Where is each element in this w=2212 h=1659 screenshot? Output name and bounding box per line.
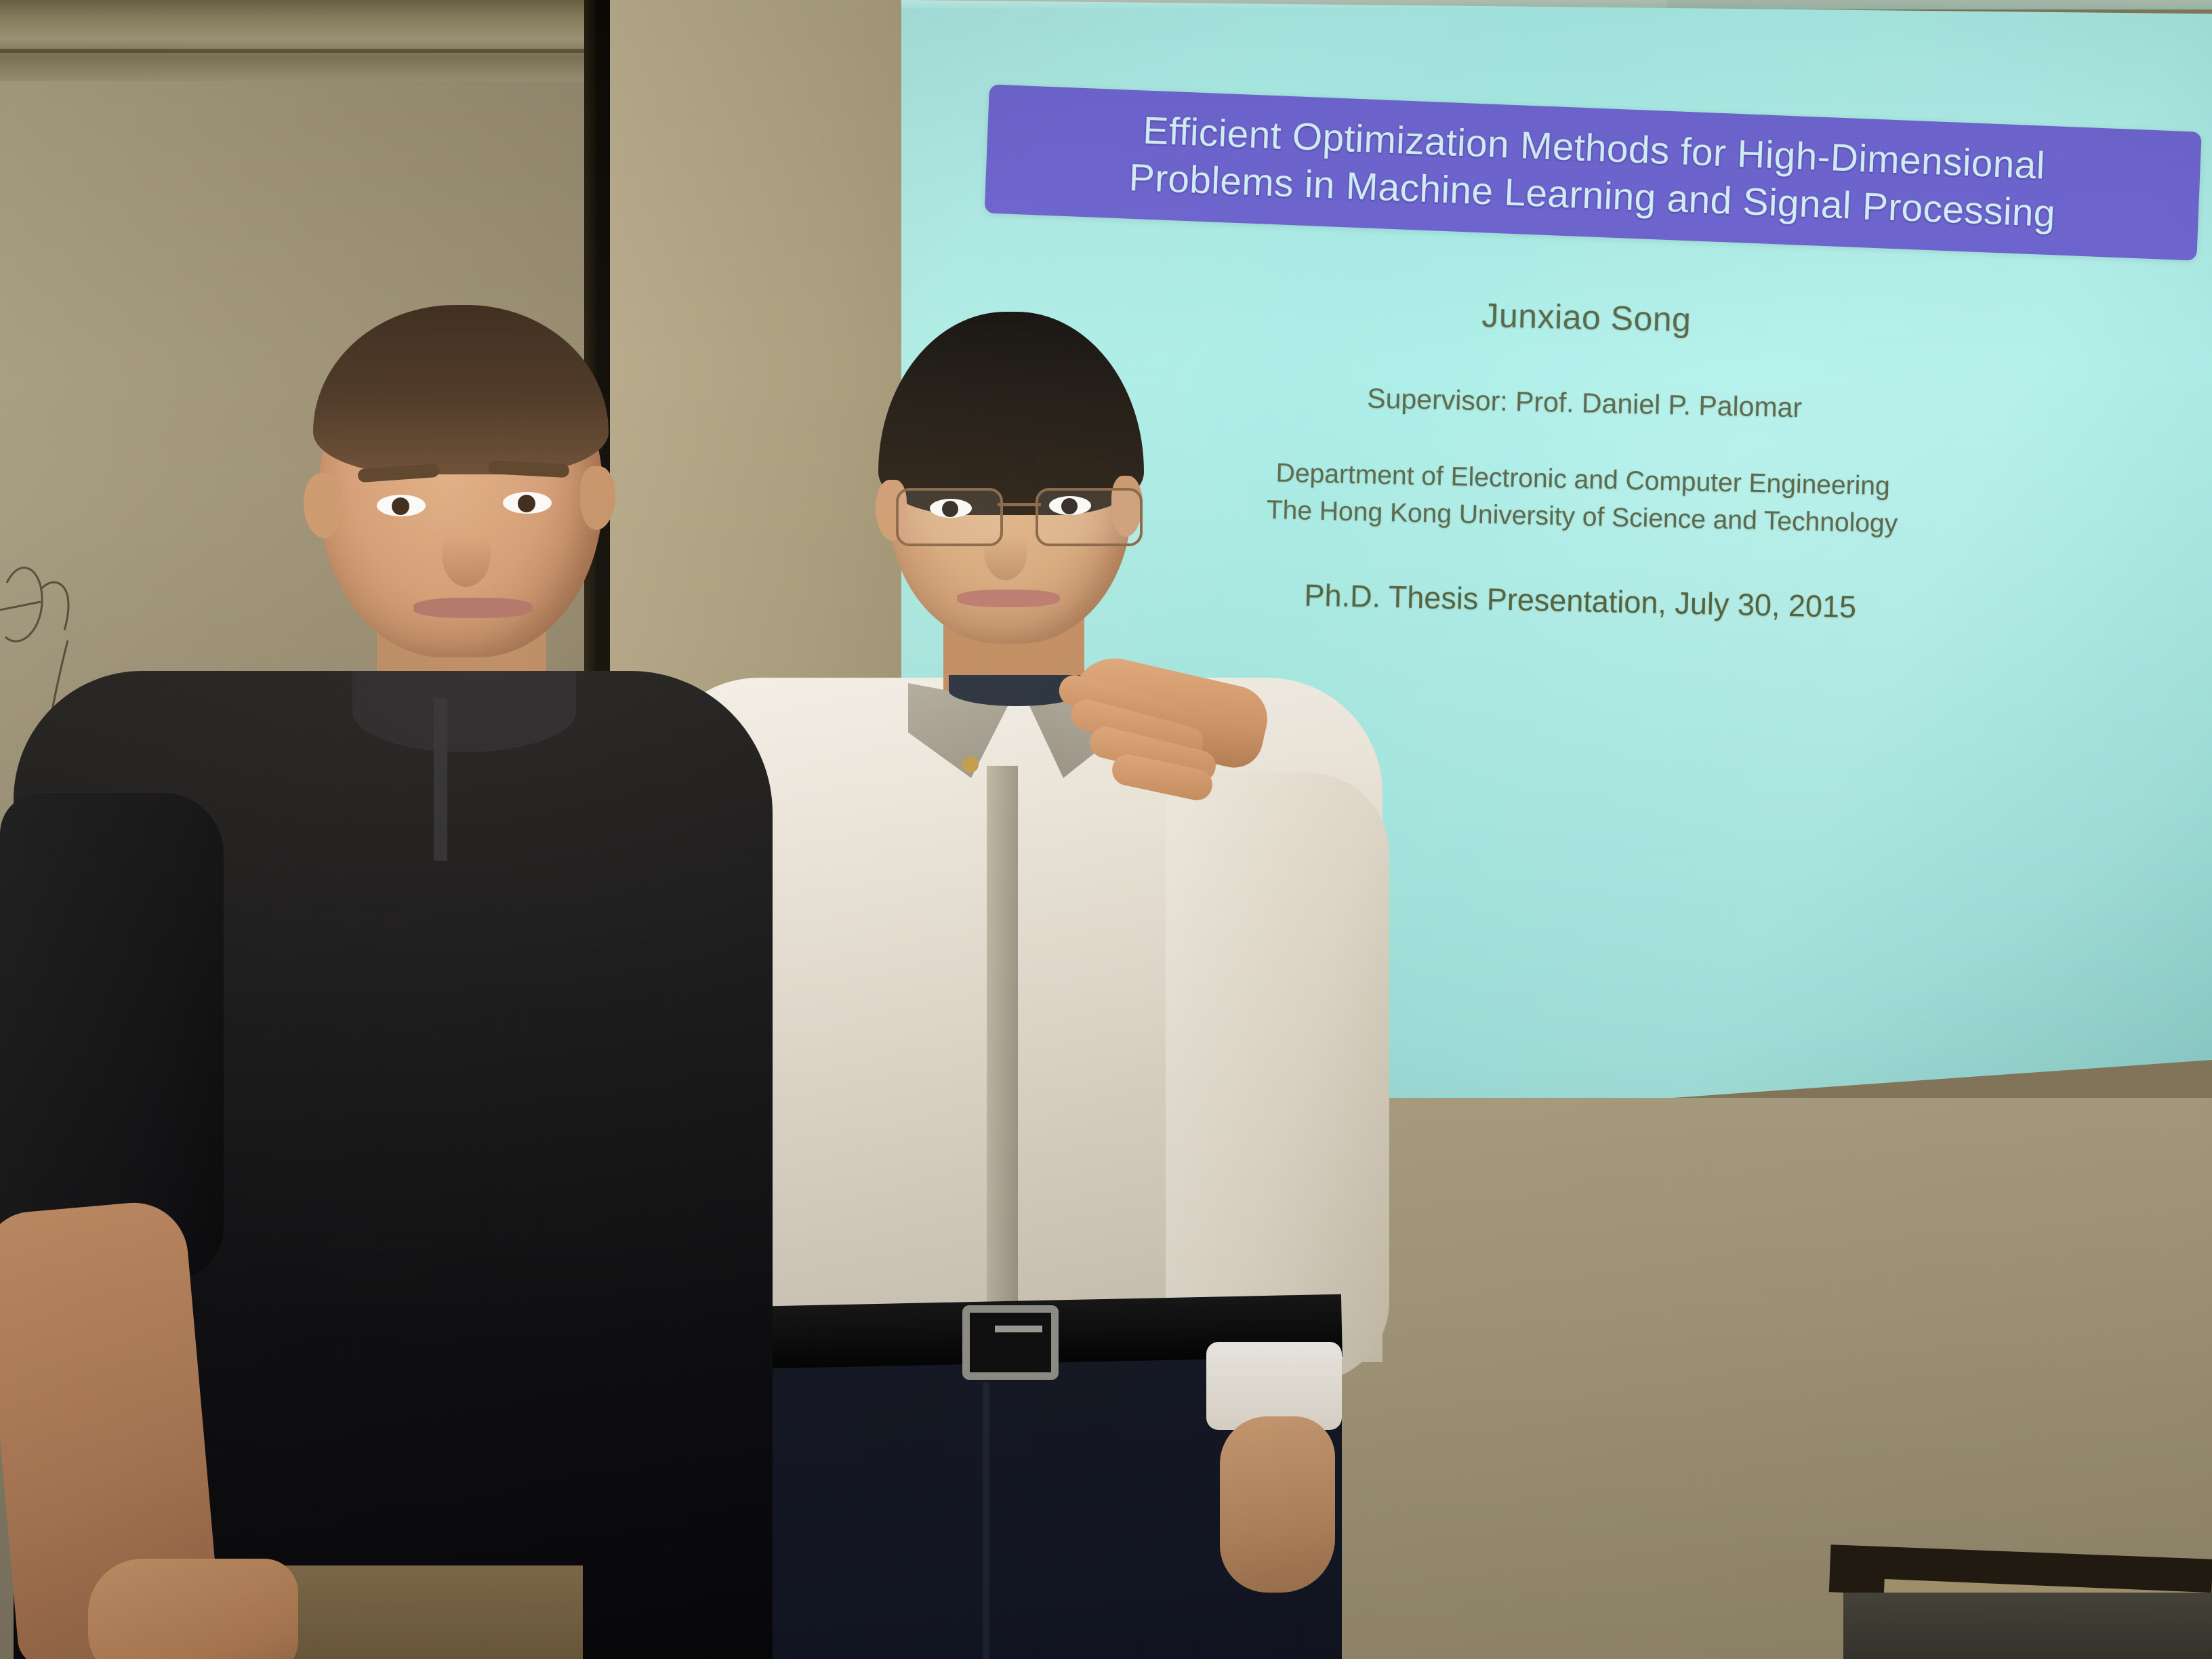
right-person-sleeve [1166, 773, 1389, 1382]
left-person-ear-right [580, 466, 615, 530]
left-person-eye-right [503, 492, 552, 514]
left-person-polo-collar [352, 671, 576, 752]
left-person-nose [442, 522, 491, 587]
left-person-pupil-left [392, 497, 409, 515]
left-person-mouth [413, 598, 533, 618]
eyeglasses-bridge [998, 503, 1041, 506]
hand-on-shoulder [1030, 671, 1267, 793]
left-person-polo-placket [434, 698, 447, 861]
left-person-ear-left [304, 473, 342, 538]
right-person-trouser-crease [983, 1382, 989, 1659]
floor [1843, 1593, 2212, 1659]
left-person-pupil-right [518, 495, 535, 512]
photo-scene: Efficient Optimization Methods for High-… [0, 0, 2212, 1659]
right-person-nose [984, 522, 1027, 580]
belt-buckle-prong [995, 1326, 1042, 1332]
person-left [0, 291, 800, 1659]
right-person-hand [1220, 1416, 1335, 1593]
right-person-collar-button [962, 756, 979, 773]
eyeglasses-lens-right [1036, 488, 1143, 546]
molding-line [0, 49, 610, 53]
left-person-eye-left [377, 495, 426, 516]
screen-top-edge [901, 0, 2212, 9]
ceiling-molding [0, 0, 610, 81]
left-person-hand-on-hip [88, 1559, 298, 1659]
belt-buckle [962, 1305, 1059, 1380]
left-person-hair [313, 305, 609, 474]
right-person-mouth [957, 590, 1060, 607]
